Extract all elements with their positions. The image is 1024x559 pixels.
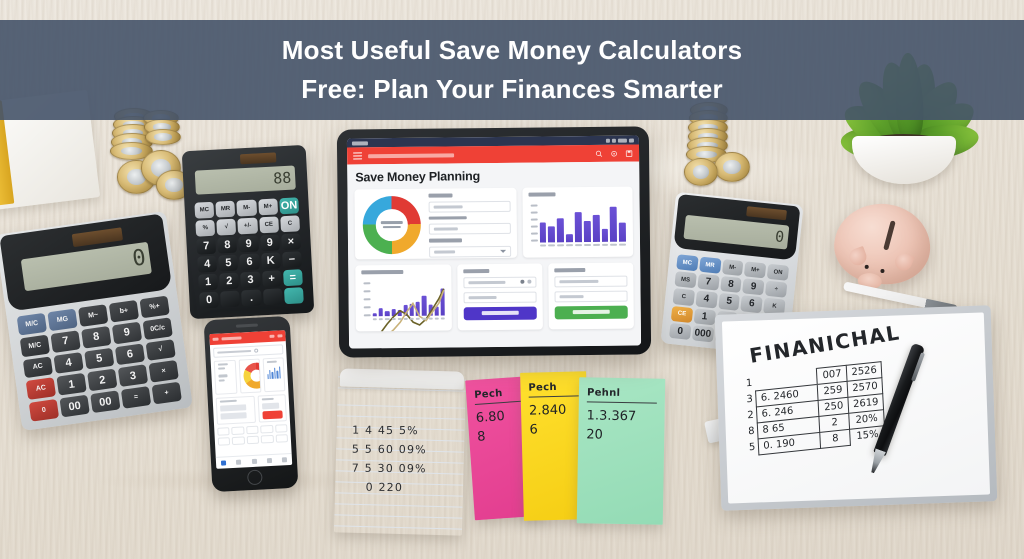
nav-item-user[interactable] xyxy=(277,454,293,466)
tablet-screen[interactable]: Save Money Planning xyxy=(347,135,641,348)
plant-pot xyxy=(852,136,956,184)
notepad-handwriting: 1 4 45 5% 5 5 60 09% 7 5 30 09% 0 220 xyxy=(352,422,457,499)
calc-key[interactable]: 00 xyxy=(59,395,89,418)
y-axis xyxy=(361,282,370,316)
text-field-2[interactable] xyxy=(429,223,511,235)
page-title: Save Money Planning xyxy=(355,168,632,185)
calc-key[interactable]: MR xyxy=(699,257,721,274)
field-label xyxy=(429,216,467,220)
cell-c2: 8 xyxy=(820,429,851,448)
search-icon[interactable] xyxy=(595,149,603,157)
row-label: 3 xyxy=(742,391,757,408)
nav-item-chart[interactable] xyxy=(231,456,247,468)
calc-key[interactable]: +/- xyxy=(238,218,258,235)
calc-key-zero[interactable]: 0 xyxy=(29,399,59,422)
tablet-bar-chart xyxy=(528,199,627,250)
tablet-page: Save Money Planning xyxy=(347,161,641,348)
quick-key[interactable] xyxy=(217,427,230,436)
sticky-note-value: 6 xyxy=(529,420,579,440)
dashboard-row-top xyxy=(354,187,633,260)
bar xyxy=(548,227,555,242)
calc-key[interactable]: M/C xyxy=(17,313,47,336)
notepad-line: 0 220 xyxy=(352,478,456,498)
signal-icon xyxy=(612,138,616,142)
trend-chart-card xyxy=(355,264,452,331)
trend-lines xyxy=(372,281,445,331)
calc-key[interactable]: MR xyxy=(216,201,236,218)
wifi-icon xyxy=(606,138,610,142)
calc-key[interactable]: b+ xyxy=(109,300,139,323)
calc-key[interactable]: 8 xyxy=(217,237,237,254)
title-banner: Most Useful Save Money Calculators Free:… xyxy=(0,20,1024,120)
quick-key[interactable] xyxy=(246,426,259,435)
calc-key[interactable]: AC xyxy=(23,356,53,379)
calc-key[interactable]: 6 xyxy=(741,296,763,313)
calc-key[interactable]: √ xyxy=(146,339,176,362)
tablet-trend-chart xyxy=(361,277,445,324)
whiteboard-surface: FINANICHAL 1 007 2526 3 6. 2460 259 2570… xyxy=(722,312,990,503)
form-input-4[interactable] xyxy=(554,290,627,302)
y-axis xyxy=(528,204,537,242)
calc-key[interactable]: 6 xyxy=(115,343,145,366)
hamburger-icon[interactable] xyxy=(353,152,362,160)
primary-submit-button[interactable] xyxy=(464,306,537,320)
row-label: 8 xyxy=(744,423,759,440)
calc-key[interactable]: 7 xyxy=(196,238,216,255)
card-label xyxy=(554,268,585,272)
sticky-note-value: 2.840 xyxy=(529,401,579,421)
bar-plot xyxy=(539,203,626,242)
calc-key[interactable]: 000 xyxy=(692,325,714,342)
calc-key[interactable]: 0 xyxy=(669,323,691,340)
radio-icon[interactable] xyxy=(520,280,524,284)
status-clock xyxy=(352,141,368,145)
calc-key[interactable]: − xyxy=(282,251,302,268)
button-label xyxy=(572,310,610,314)
phone-screen[interactable] xyxy=(209,330,292,469)
settings-icon[interactable] xyxy=(610,149,618,157)
bar xyxy=(610,206,617,241)
calc-key[interactable]: 3 xyxy=(240,271,260,288)
calc-key-clear[interactable]: AC xyxy=(26,378,56,401)
calc-key[interactable]: M+ xyxy=(744,261,766,278)
sticky-note-mint: Pehnl 1.3.367 20 xyxy=(577,377,666,524)
form-card-green[interactable] xyxy=(548,263,634,330)
battery-icon xyxy=(618,138,627,142)
form-input-3[interactable] xyxy=(554,275,627,287)
phone-search-input[interactable] xyxy=(213,344,283,358)
calc-key[interactable]: 9 xyxy=(742,278,764,295)
phone-quick-keys[interactable] xyxy=(217,424,288,446)
phone-form-card[interactable] xyxy=(216,396,256,425)
phone-donut-card xyxy=(239,359,261,394)
form-input-1[interactable] xyxy=(463,276,536,288)
bar-chart-card xyxy=(522,187,633,258)
calc-key[interactable]: 0C/c xyxy=(142,317,172,340)
black-calculator-top[interactable]: 88 MC MR M- M+ ON % √ +/- CE C 7 8 9 9 ×… xyxy=(182,145,315,319)
phone-stat-card xyxy=(214,360,238,395)
phone-mini-bar-chart xyxy=(267,365,281,380)
phone-submit-button[interactable] xyxy=(262,411,282,420)
search-icon[interactable] xyxy=(254,349,258,353)
dashboard-row-bottom xyxy=(355,263,634,332)
quick-key[interactable] xyxy=(275,434,288,443)
row-label: 5 xyxy=(745,439,760,456)
calc-key[interactable]: 7 xyxy=(50,330,80,353)
sticky-note-header: Pech xyxy=(528,381,578,397)
calc-key[interactable]: 3 xyxy=(118,365,148,388)
calc-key[interactable] xyxy=(263,288,283,305)
tablet-donut-chart xyxy=(363,196,422,255)
quick-key[interactable] xyxy=(232,437,245,446)
calc-key[interactable]: 1 xyxy=(693,308,715,325)
calc-key[interactable]: 9 xyxy=(260,234,280,251)
secondary-submit-button[interactable] xyxy=(555,305,628,319)
quick-key[interactable] xyxy=(261,435,274,444)
calc-key[interactable]: MC xyxy=(676,254,698,271)
form-card-purple[interactable] xyxy=(457,263,543,330)
banner-line-2: Free: Plan Your Finances Smarter xyxy=(301,71,723,108)
select-field[interactable] xyxy=(429,245,511,257)
calc-key[interactable]: 1 xyxy=(198,274,218,291)
whiteboard-table: 1 007 2526 3 6. 2460 259 2570 2 6. 246 2… xyxy=(741,361,885,457)
bar xyxy=(557,218,564,242)
notepad-line: 1 4 45 5% xyxy=(352,422,456,442)
calc-key[interactable] xyxy=(284,287,304,304)
calc-key[interactable]: × xyxy=(149,360,179,383)
solar-panel xyxy=(240,152,276,164)
phone-chart-card xyxy=(262,357,285,392)
calc-key[interactable]: × xyxy=(281,233,301,250)
calc-key[interactable]: 9 xyxy=(239,235,259,252)
calc-key[interactable]: M- xyxy=(722,259,744,276)
sticky-note-value: 20 xyxy=(586,426,656,446)
whiteboard: FINANICHAL 1 007 2526 3 6. 2460 259 2570… xyxy=(715,305,998,511)
nav-item-wallet[interactable] xyxy=(246,456,262,468)
calc-key[interactable]: % xyxy=(195,220,215,237)
smartphone-device[interactable] xyxy=(204,316,299,492)
nav-item-list[interactable] xyxy=(261,455,277,467)
calc-key[interactable]: MC xyxy=(194,202,214,219)
card-label xyxy=(463,269,489,273)
piggy-bank xyxy=(820,192,945,306)
calc-key[interactable]: M~ xyxy=(78,304,108,327)
chevron-down-icon[interactable] xyxy=(500,249,506,252)
calc-key[interactable]: 1 xyxy=(56,373,86,396)
calc-key[interactable] xyxy=(220,291,240,308)
calc-key[interactable]: 6 xyxy=(240,253,260,270)
chart-label xyxy=(528,192,556,196)
phone-summary-row xyxy=(214,357,286,395)
status-icons xyxy=(606,138,634,142)
donut-card-form[interactable] xyxy=(424,193,510,254)
calc-key[interactable]: 5 xyxy=(718,293,740,310)
bar xyxy=(539,222,546,242)
text-field-1[interactable] xyxy=(429,200,511,212)
x-axis xyxy=(373,317,445,324)
bar xyxy=(592,215,599,242)
app-bar-title xyxy=(368,153,454,158)
calc-key[interactable]: K xyxy=(261,252,281,269)
calc-key-equals[interactable]: = xyxy=(283,269,303,286)
radio-icon[interactable] xyxy=(527,280,531,284)
calc-key[interactable]: + xyxy=(152,382,182,405)
calc-key[interactable]: 4 xyxy=(197,256,217,273)
quick-key[interactable] xyxy=(275,424,288,433)
calc-key[interactable]: M/C xyxy=(20,334,50,357)
form-input-2[interactable] xyxy=(463,291,536,303)
button-label xyxy=(481,311,519,315)
calc-key[interactable]: √ xyxy=(216,219,236,236)
calculator-keypad[interactable]: MC MR M- M+ ON % √ +/- CE C 7 8 9 9 × 4 … xyxy=(194,197,303,308)
calc-key[interactable]: M+ xyxy=(258,198,278,215)
calc-key[interactable]: 5 xyxy=(218,255,238,272)
calc-key[interactable]: MG xyxy=(47,309,77,332)
bar xyxy=(575,212,582,242)
field-label xyxy=(429,238,462,242)
calc-key[interactable]: 4 xyxy=(53,352,83,375)
calc-key[interactable]: C xyxy=(280,215,300,232)
calc-key[interactable]: CE xyxy=(259,216,279,233)
field-label xyxy=(428,193,453,197)
nav-item-home[interactable] xyxy=(216,457,232,469)
calc-key[interactable]: 8 xyxy=(720,276,742,293)
desk-scene: 0 M/C MG M~ b+ %+ M/C 7 8 9 0C/c AC 4 5 … xyxy=(0,0,1024,559)
quick-key[interactable] xyxy=(218,437,231,446)
calc-key[interactable]: 7 xyxy=(697,274,719,291)
row-label: 2 xyxy=(743,407,758,424)
row-label: 1 xyxy=(741,375,756,392)
bar xyxy=(619,223,626,241)
phone-content xyxy=(211,357,292,457)
calc-key[interactable]: 0 xyxy=(199,292,219,309)
calc-key[interactable]: = xyxy=(121,386,151,409)
notepad-binding xyxy=(340,368,464,389)
notepad-line: 5 5 60 09% xyxy=(352,441,456,461)
calc-key[interactable]: C xyxy=(673,288,695,305)
calculator-display-value: 0 xyxy=(774,229,789,245)
bar xyxy=(566,234,573,242)
calc-key[interactable]: ON xyxy=(767,264,789,281)
x-axis xyxy=(540,243,626,250)
tablet-device[interactable]: Save Money Planning xyxy=(337,126,651,357)
donut-card xyxy=(354,188,516,260)
calc-key[interactable]: . xyxy=(241,289,261,306)
calc-key[interactable]: + xyxy=(262,270,282,287)
save-icon[interactable] xyxy=(625,149,633,157)
bar xyxy=(601,228,608,241)
piggy-body xyxy=(832,201,933,288)
quick-key[interactable] xyxy=(232,427,245,436)
quick-key[interactable] xyxy=(246,436,259,445)
banner-line-1: Most Useful Save Money Calculators xyxy=(282,32,742,69)
calc-key[interactable]: 2 xyxy=(219,273,239,290)
calculator-display-value: 0 xyxy=(131,247,151,271)
calc-key[interactable]: 00 xyxy=(90,391,120,414)
calc-key[interactable]: ÷ xyxy=(765,281,787,298)
calc-key[interactable]: M- xyxy=(237,200,257,217)
calc-key[interactable]: 9 xyxy=(112,321,142,344)
silver-calculator-left[interactable]: 0 M/C MG M~ b+ %+ M/C 7 8 9 0C/c AC 4 5 … xyxy=(0,211,193,431)
chart-label xyxy=(361,270,403,274)
calculator-display-value: 88 xyxy=(273,170,296,186)
calculator-keypad[interactable]: M/C MG M~ b+ %+ M/C 7 8 9 0C/c AC 4 5 6 … xyxy=(17,296,182,422)
app-bar-actions[interactable] xyxy=(595,149,633,157)
phone-action-card[interactable] xyxy=(257,394,287,423)
calc-key-on[interactable]: ON xyxy=(279,197,299,214)
calc-key[interactable]: 4 xyxy=(695,291,717,308)
calc-key[interactable]: 5 xyxy=(84,347,114,370)
sticky-note-header: Pehnl xyxy=(587,387,657,403)
calc-key-clear[interactable]: CE xyxy=(671,306,693,323)
phone-form-row[interactable] xyxy=(216,394,287,425)
calc-key[interactable]: %+ xyxy=(139,296,169,319)
bar xyxy=(584,221,591,242)
quick-key[interactable] xyxy=(260,425,273,434)
notepad-line: 7 5 30 09% xyxy=(352,459,456,479)
notepad: 1 4 45 5% 5 5 60 09% 7 5 30 09% 0 220 xyxy=(334,372,466,535)
phone-donut-chart xyxy=(243,362,261,389)
battery-percent xyxy=(629,138,634,142)
calc-key[interactable]: MS xyxy=(674,271,696,288)
sticky-note-value: 1.3.367 xyxy=(586,407,656,427)
donut-center-label xyxy=(376,209,408,241)
calc-key[interactable]: 8 xyxy=(81,326,111,349)
calc-key[interactable]: 2 xyxy=(87,369,117,392)
